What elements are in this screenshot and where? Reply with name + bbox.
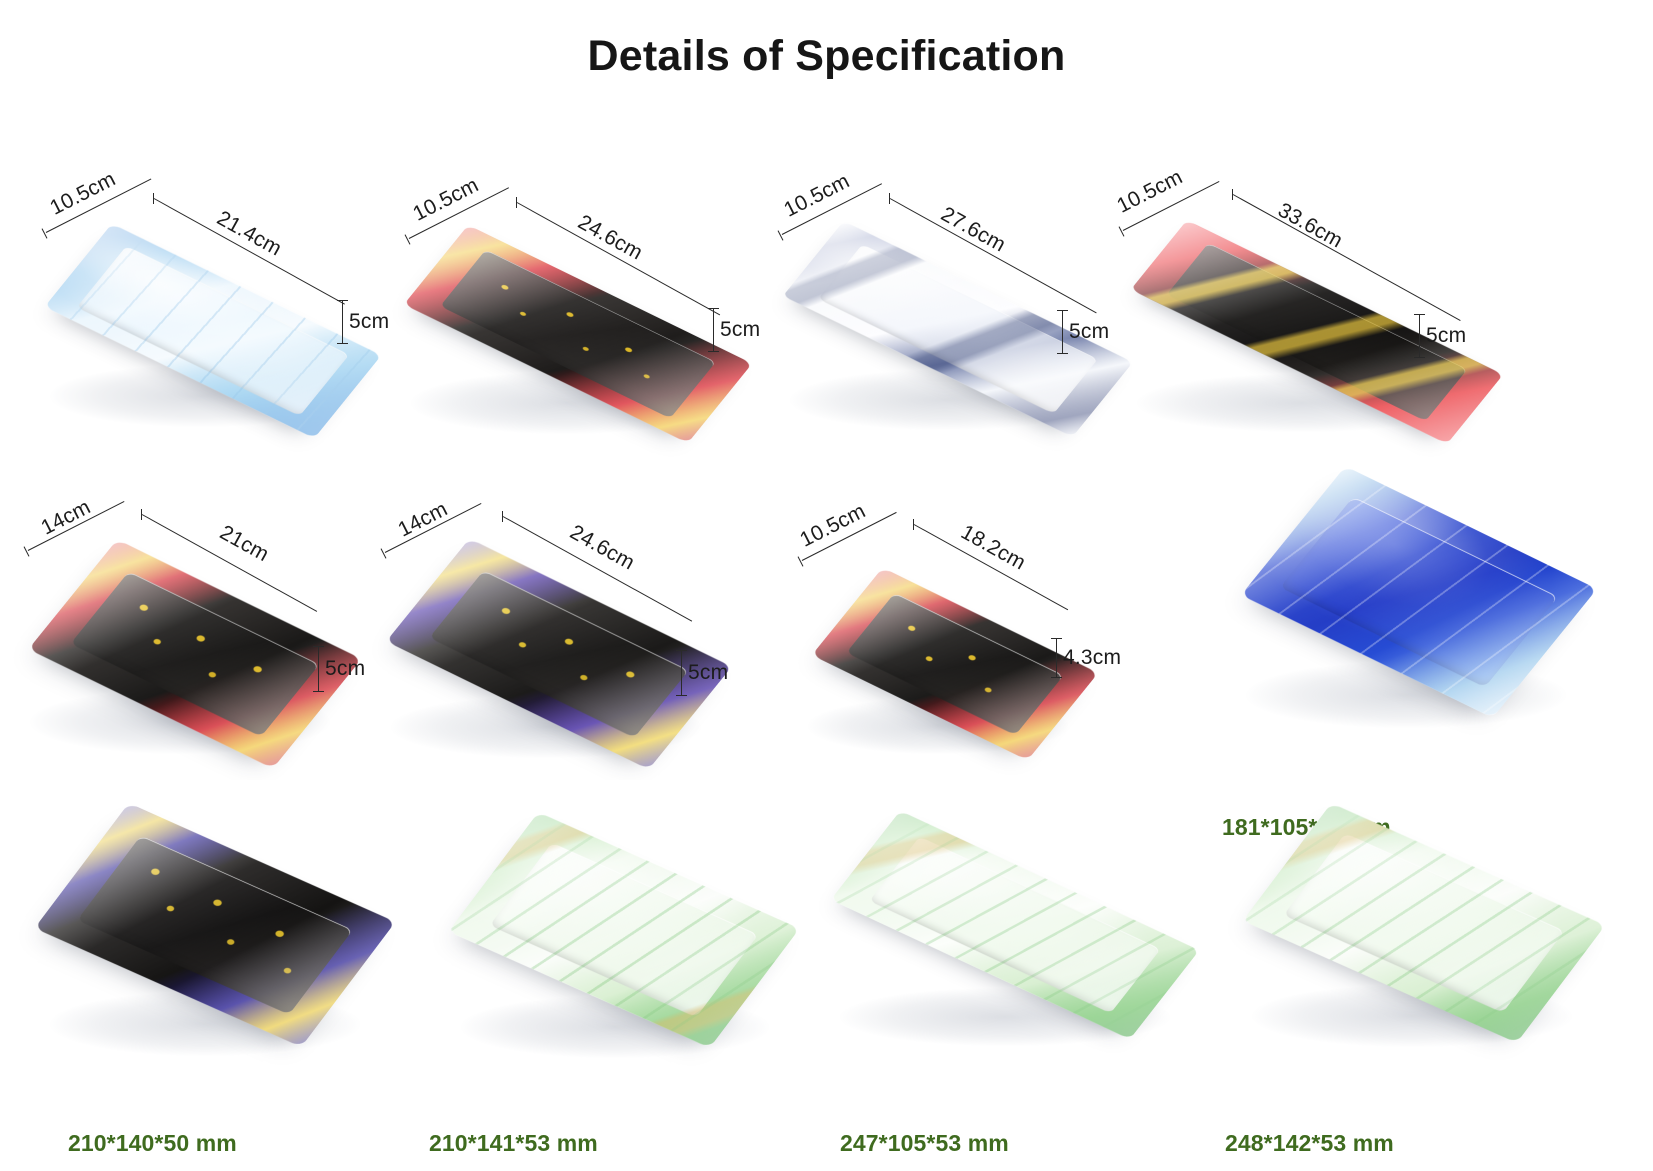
spec-label-9: 210*140*50 mm (68, 1130, 237, 1157)
product-cell-6[interactable]: 14cm 24.6cm 5cm (355, 480, 755, 780)
dimension-height-label-6: 5cm (688, 661, 728, 685)
spec-label-10: 210*141*53 mm (429, 1130, 598, 1157)
product-cell-7[interactable]: 10.5cm 18.2cm 4.3cm (760, 490, 1150, 780)
dimension-height-6: 5cm (681, 650, 728, 696)
product-cell-1[interactable]: 10.5cm 21.4cm 5cm (10, 160, 400, 470)
dimension-height-label-4: 5cm (1426, 324, 1466, 348)
product-cell-11[interactable]: 247*105*53 mm (800, 760, 1230, 1090)
spec-label-11: 247*105*53 mm (840, 1130, 1009, 1157)
product-photo-11 (800, 760, 1230, 1090)
product-cell-2[interactable]: 10.5cm 24.6cm 5cm (375, 160, 765, 470)
product-cell-12[interactable]: 248*142*53 mm (1200, 755, 1640, 1090)
product-cell-10[interactable]: 210*141*53 mm (405, 770, 835, 1090)
dimension-height-label-7: 4.3cm (1063, 646, 1121, 670)
product-photo-9 (0, 760, 430, 1090)
product-photo-8 (1180, 440, 1640, 770)
product-photo-12 (1200, 755, 1640, 1090)
product-cell-4[interactable]: 10.5cm 33.6cm 5cm (1085, 152, 1515, 462)
product-cell-9[interactable]: 210*140*50 mm (0, 760, 430, 1090)
product-grid: 10.5cm 21.4cm 5cm 10.5cm (0, 140, 1653, 1150)
product-photo-10 (405, 770, 835, 1090)
dimension-height-7: 4.3cm (1056, 638, 1121, 678)
dimension-height-4: 5cm (1419, 314, 1466, 358)
page-title: Details of Specification (0, 32, 1653, 81)
product-cell-8[interactable]: 181*105*46 mm (1180, 440, 1640, 770)
spec-label-12: 248*142*53 mm (1225, 1130, 1394, 1157)
product-cell-5[interactable]: 14cm 21cm 5cm (0, 480, 390, 780)
